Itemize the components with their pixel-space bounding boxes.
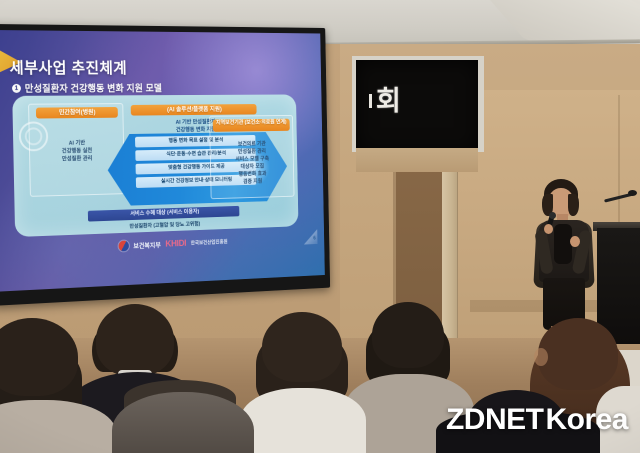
chip-middle-label: (AI 솔루션/플랫폼 지원) xyxy=(131,104,257,116)
banner-glyph-fragment xyxy=(369,94,372,108)
slide-subtitle-row: 1 만성질환자 건강행동 변화 지원 모델 xyxy=(12,81,162,95)
zdnet-korea-watermark: ZDNET Korea xyxy=(446,405,628,435)
conference-photo-scene: 회 세부사업 추진체계 1 만성질환자 건강행동 변화 지원 모델 AI 기반 xyxy=(0,0,640,453)
presenter-hair-right xyxy=(568,194,579,216)
podium-mic-head-icon xyxy=(628,190,637,196)
logo-mohw-label: 보건복지부 xyxy=(133,239,161,250)
slide-content-panel: AI 기반 건강행동 실천 만성질환 관리 민간참여(병원) (AI 솔루션/플… xyxy=(12,94,298,237)
projected-slide: 세부사업 추진체계 1 만성질환자 건강행동 변화 지원 모델 AI 기반 건강… xyxy=(0,30,325,292)
audience-member-a7-head xyxy=(538,318,618,390)
presenter-hand-right xyxy=(570,236,580,247)
slide-footer-logos: 보건복지부 KHIDI 한국보건산업진흥원 xyxy=(90,234,254,254)
slide-subtitle: 만성질환자 건강행동 변화 지원 모델 xyxy=(25,81,163,95)
logo-khidi-sub-label: 한국보건산업진흥원 xyxy=(191,238,228,246)
watermark-korea: Korea xyxy=(545,405,628,435)
number-badge-icon: 1 xyxy=(12,83,21,92)
slide-page-marker: 6 xyxy=(304,229,318,244)
event-banner: 회 xyxy=(356,60,478,152)
chip-left-label: 민간참여(병원) xyxy=(36,107,118,119)
microphone-icon xyxy=(549,212,556,219)
watermark-zdnet: ZDNET xyxy=(446,405,544,435)
diagram-box-left-text: AI 기반 건강행동 실천 만성질환 관리 xyxy=(30,139,124,164)
presenter-dress xyxy=(554,224,572,264)
diagram-box-right-text: 보건의료 기관 만성질환 관리 서비스 모델 구축 대상자 모집 행동변화 효과… xyxy=(210,140,293,187)
banner-lower-wall xyxy=(356,148,478,172)
audience-member-a4-shoulders xyxy=(240,388,366,453)
slide-title: 세부사업 추진체계 xyxy=(9,56,127,78)
taegeuk-mark-icon xyxy=(118,240,128,251)
audience-member-a5-head xyxy=(372,302,444,368)
logo-khidi-label: KHIDI xyxy=(165,238,186,248)
chip-right-label: 지역보건기관 (보건소·의료원 연계) xyxy=(213,119,290,132)
projection-screen-assembly: 세부사업 추진체계 1 만성질환자 건강행동 변화 지원 모델 AI 기반 건강… xyxy=(0,24,330,306)
banner-character: 회 xyxy=(376,88,401,115)
presenter-hand-left xyxy=(544,224,553,234)
audience-member-a7-ear xyxy=(534,348,548,366)
audience-member-a1-head xyxy=(96,304,174,376)
audience-member-a4-head xyxy=(262,312,342,382)
